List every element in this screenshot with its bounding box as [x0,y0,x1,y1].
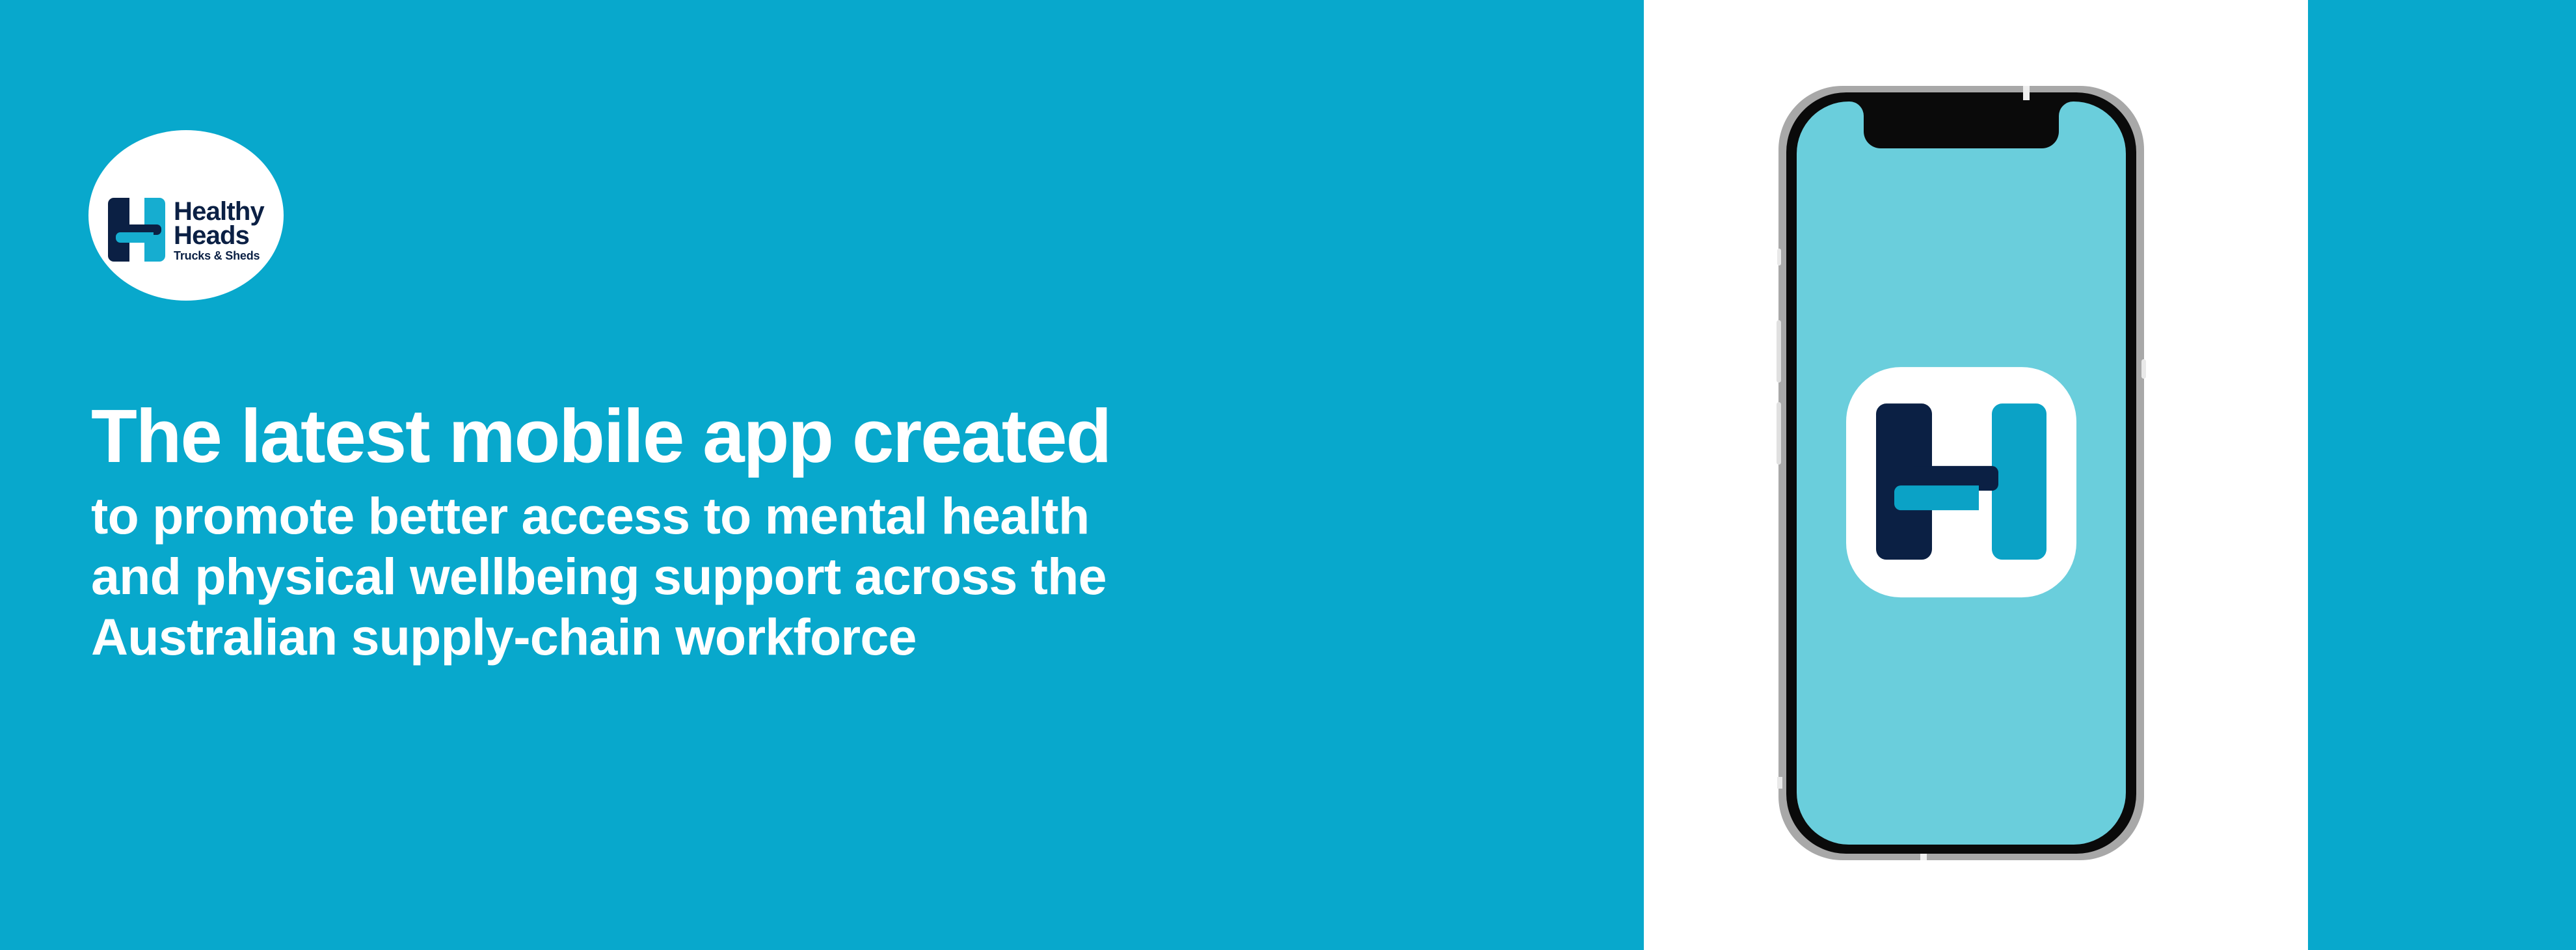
subline-2: and physical wellbeing support across th… [91,546,1457,606]
logo-wordmark: Healthy Heads Trucks & Sheds [174,200,264,262]
brand-logo[interactable]: Healthy Heads Trucks & Sheds [88,130,284,301]
app-icon[interactable] [1846,367,2076,597]
phone-notch [1864,102,2059,148]
logo-h-crossbar-cyan [116,232,154,243]
logo-inner: Healthy Heads Trucks & Sheds [108,198,264,262]
logo-word-line-1: Healthy [174,200,264,224]
headline: The latest mobile app created [91,398,1457,474]
healthy-heads-h-icon [108,198,165,262]
subline-1: to promote better access to mental healt… [91,485,1457,546]
phone-power-button[interactable] [2141,359,2146,379]
marketing-copy: The latest mobile app created to promote… [91,398,1457,668]
right-cyan-panel [2308,0,2576,950]
promo-banner: Healthy Heads Trucks & Sheds The latest … [0,0,2576,950]
app-icon-crossbar-cyan [1894,485,1979,510]
phone-antenna-band-bottom [1920,854,1927,860]
notch-corner-right [2059,102,2073,116]
subline-3: Australian supply-chain workforce [91,606,1457,667]
phone-antenna-band-top [2023,86,2030,100]
phone-screen[interactable] [1797,102,2126,845]
logo-word-line-2: Heads [174,224,264,248]
app-icon-h-right-stem [1992,403,2046,560]
notch-corner-left [1849,102,1864,116]
phone-mockup [1769,86,2153,860]
phone-volume-up-button[interactable] [1777,320,1781,383]
phone-volume-down-button[interactable] [1777,402,1781,465]
logo-tagline: Trucks & Sheds [174,251,264,262]
app-icon-h-mark [1876,403,2046,560]
phone-silent-switch[interactable] [1777,249,1781,265]
phone-antenna-band-left [1777,777,1782,789]
